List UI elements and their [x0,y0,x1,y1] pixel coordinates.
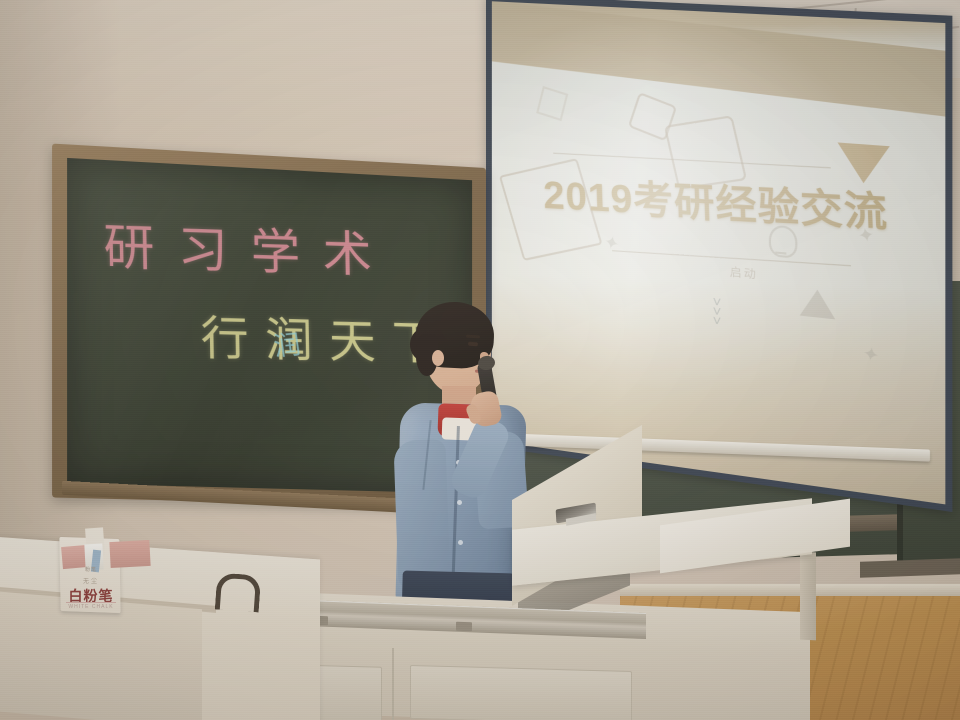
chalk-box-product-name: 白粉笔 [62,586,120,606]
eye [468,342,478,347]
floor-skirting [620,584,960,596]
pink-chalk [109,540,150,568]
left-arm [393,439,450,591]
shirt-button [457,500,462,505]
lectern-panel-seam [392,648,394,720]
lectern-drawer [410,665,632,720]
lectern-leg [800,552,816,641]
chalk-box-fine-print: WHITE CHALK [62,604,120,610]
rail-notch [456,622,472,632]
chalk-box-rule [66,602,116,603]
classroom-photo-scene: ✦ ✦ ✦ 启动 2019考研经验交流 ˅˅˅ 研习学术 行润天下 润 [0,0,960,720]
shirt-button [458,540,463,545]
chalk-box-brand-top: 粉笔 [64,566,118,573]
ear [432,350,444,366]
chalk-box-brand-mid: 无尘 [64,576,118,585]
bag-handle [215,573,261,613]
